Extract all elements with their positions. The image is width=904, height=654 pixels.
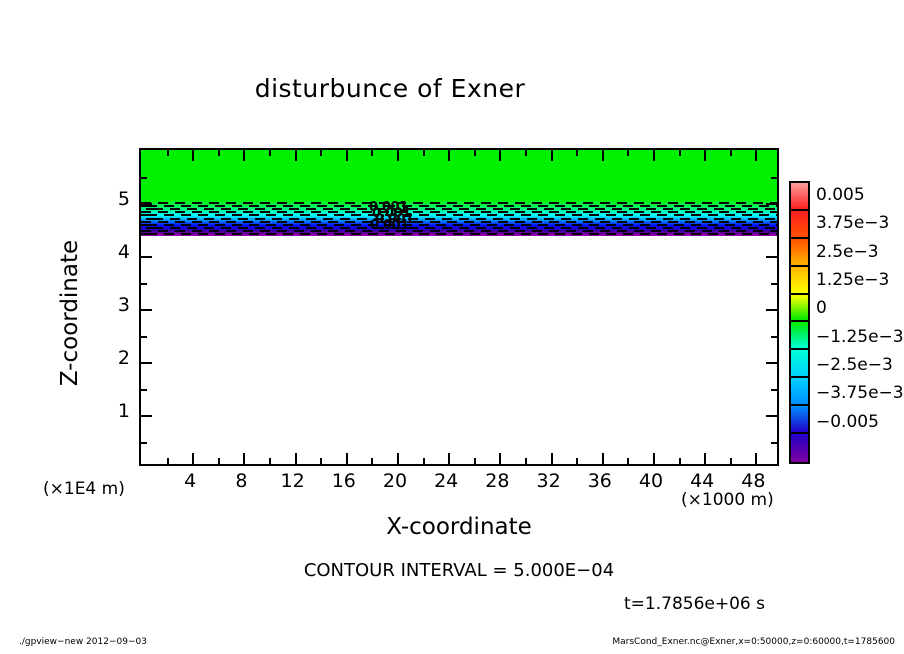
axis-tick	[766, 256, 777, 258]
axis-tick	[576, 150, 578, 156]
footer-source-text: MarsCond_Exner.nc@Exner,x=0:50000,z=0:60…	[612, 637, 895, 647]
axis-tick	[295, 453, 297, 464]
x-axis-units: (×1000 m)	[681, 490, 774, 510]
axis-tick	[243, 150, 245, 161]
x-tick-label: 44	[680, 470, 724, 492]
axis-tick	[141, 283, 147, 285]
axis-tick	[192, 150, 194, 161]
axis-tick	[771, 442, 777, 444]
x-tick-label: 48	[731, 470, 775, 492]
x-tick-label: 4	[168, 470, 212, 492]
colorbar	[789, 181, 810, 464]
axis-tick	[766, 362, 777, 364]
colorbar-band	[791, 211, 808, 239]
x-tick-label: 36	[578, 470, 622, 492]
axis-tick	[551, 453, 553, 464]
axis-tick	[448, 150, 450, 161]
axis-tick	[218, 150, 220, 156]
axis-tick	[371, 150, 373, 156]
axis-tick	[141, 415, 152, 417]
axis-tick	[167, 458, 169, 464]
contour-line	[141, 211, 777, 213]
axis-tick	[243, 453, 245, 464]
colorbar-tick-label: 3.75e−3	[816, 213, 889, 233]
y-tick-label: 2	[100, 347, 130, 369]
colorbar-band	[791, 239, 808, 267]
axis-tick	[218, 458, 220, 464]
axis-tick	[269, 458, 271, 464]
colorbar-tick-label: 1.25e−3	[816, 270, 889, 290]
axis-tick	[766, 309, 777, 311]
y-axis-title: Z-coordinate	[57, 203, 83, 423]
axis-tick	[423, 150, 425, 156]
x-tick-label: 40	[629, 470, 673, 492]
y-tick-label: 4	[100, 241, 130, 263]
axis-tick	[141, 203, 152, 205]
axis-tick	[771, 389, 777, 391]
contour-line	[141, 202, 777, 204]
x-tick-label: 16	[322, 470, 366, 492]
y-tick-label: 5	[100, 188, 130, 210]
axis-tick	[346, 453, 348, 464]
axis-tick	[167, 150, 169, 156]
axis-tick	[141, 362, 152, 364]
axis-tick	[397, 150, 399, 161]
contour-line	[141, 214, 777, 216]
axis-tick	[448, 453, 450, 464]
contour-line	[141, 208, 777, 210]
contour-line	[141, 205, 777, 207]
axis-tick	[766, 203, 777, 205]
axis-tick	[499, 150, 501, 161]
axis-tick	[371, 458, 373, 464]
colorbar-band	[791, 322, 808, 350]
y-tick-label: 3	[100, 294, 130, 316]
axis-tick	[551, 150, 553, 161]
axis-tick	[704, 453, 706, 464]
x-axis-title: X-coordinate	[139, 514, 779, 540]
axis-tick	[771, 230, 777, 232]
axis-tick	[766, 415, 777, 417]
colorbar-band	[791, 434, 808, 462]
colorbar-tick-label: −0.005	[816, 412, 879, 432]
axis-tick	[269, 150, 271, 156]
x-tick-label: 28	[475, 470, 519, 492]
axis-tick	[730, 458, 732, 464]
axis-tick	[653, 453, 655, 464]
axis-tick	[320, 458, 322, 464]
colorbar-tick-label: −3.75e−3	[816, 383, 904, 403]
axis-tick	[771, 283, 777, 285]
axis-tick	[755, 150, 757, 161]
colorbar-tick-label: −2.5e−3	[816, 355, 893, 375]
colorbar-band	[791, 267, 808, 295]
axis-tick	[704, 150, 706, 161]
x-tick-label: 32	[527, 470, 571, 492]
axis-tick	[346, 150, 348, 161]
colorbar-band	[791, 350, 808, 378]
x-tick-label: 20	[373, 470, 417, 492]
contour-line	[141, 230, 777, 232]
axis-tick	[525, 458, 527, 464]
axis-tick	[474, 150, 476, 156]
axis-tick	[730, 150, 732, 156]
colorbar-band	[791, 295, 808, 323]
axis-tick	[602, 453, 604, 464]
contour-interval-text: CONTOUR INTERVAL = 5.000E−04	[139, 560, 779, 581]
axis-tick	[141, 336, 147, 338]
axis-tick	[653, 150, 655, 161]
x-tick-label: 12	[271, 470, 315, 492]
axis-tick	[192, 453, 194, 464]
contour-line	[141, 221, 777, 223]
axis-tick	[141, 309, 152, 311]
footer-command-text: ./gpview−new 2012−09−03	[19, 637, 147, 647]
colorbar-band	[791, 406, 808, 434]
axis-tick	[679, 150, 681, 156]
contour-value-label: 0.001	[370, 218, 409, 233]
x-tick-label: 24	[424, 470, 468, 492]
axis-tick	[771, 336, 777, 338]
y-axis-units: (×1E4 m)	[43, 479, 125, 499]
axis-tick	[141, 389, 147, 391]
colorbar-band	[791, 378, 808, 406]
axis-tick	[679, 458, 681, 464]
axis-tick	[141, 230, 147, 232]
axis-tick	[627, 458, 629, 464]
colorbar-tick-label: −1.25e−3	[816, 327, 904, 347]
contour-line	[141, 233, 777, 235]
plot-area: 0.0010.0010.0010.001	[139, 148, 779, 466]
page-title: disturbunce of Exner	[0, 74, 780, 103]
axis-tick	[499, 453, 501, 464]
axis-tick	[295, 150, 297, 161]
axis-tick	[141, 442, 147, 444]
contour-line	[141, 227, 777, 229]
axis-tick	[141, 256, 152, 258]
field-uniform-zero	[141, 150, 777, 200]
axis-tick	[627, 150, 629, 156]
colorbar-band	[791, 183, 808, 211]
contour-line	[141, 218, 777, 220]
axis-tick	[602, 150, 604, 161]
axis-tick	[423, 458, 425, 464]
timestamp-text: t=1.7856e+06 s	[624, 594, 765, 614]
colorbar-tick-label: 2.5e−3	[816, 242, 879, 262]
axis-tick	[397, 453, 399, 464]
axis-tick	[755, 453, 757, 464]
contour-line	[141, 224, 777, 226]
colorbar-tick-label: 0.005	[816, 185, 865, 205]
axis-tick	[771, 177, 777, 179]
colorbar-tick-label: 0	[816, 298, 827, 318]
x-tick-label: 8	[219, 470, 263, 492]
axis-tick	[474, 458, 476, 464]
axis-tick	[525, 150, 527, 156]
axis-tick	[320, 150, 322, 156]
axis-tick	[576, 458, 578, 464]
y-tick-label: 1	[100, 400, 130, 422]
axis-tick	[141, 177, 147, 179]
